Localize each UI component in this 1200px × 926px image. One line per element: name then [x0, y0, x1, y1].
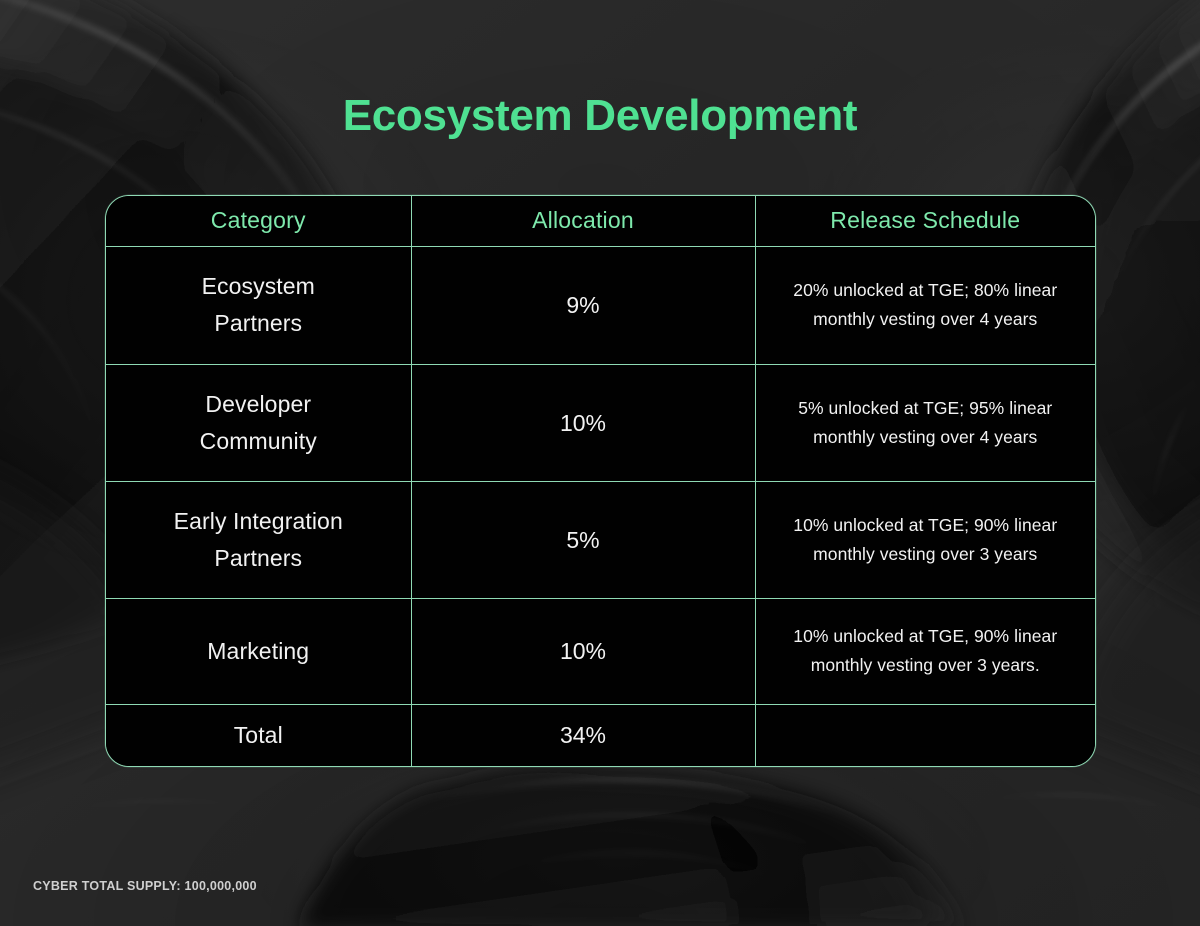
category-line: Ecosystem — [116, 268, 401, 305]
cell-allocation: 9% — [411, 246, 755, 364]
release-line: 5% unlocked at TGE; 95% — [798, 398, 1004, 418]
slide-root: Ecosystem Development Category Allocatio… — [0, 0, 1200, 926]
category-line: Developer — [116, 386, 401, 423]
release-line: 10% unlocked at TGE; 90% — [793, 515, 1009, 535]
release-line: 20% unlocked at TGE; 80% — [793, 280, 1009, 300]
column-header-release-schedule: Release Schedule — [755, 196, 1095, 246]
cell-allocation: 10% — [411, 364, 755, 481]
cell-category: Ecosystem Partners — [106, 246, 411, 364]
category-line: Marketing — [116, 633, 401, 670]
page-title: Ecosystem Development — [0, 88, 1200, 144]
table-row: Ecosystem Partners 9% 20% unlocked at TG… — [106, 246, 1095, 364]
cell-release-schedule: 10% unlocked at TGE, 90% linear monthly … — [755, 598, 1095, 704]
cell-release-schedule: 10% unlocked at TGE; 90% linear monthly … — [755, 481, 1095, 598]
release-line: 10% unlocked at TGE, 90% — [793, 626, 1009, 646]
category-line: Partners — [116, 305, 401, 342]
table-row: Early Integration Partners 5% 10% unlock… — [106, 481, 1095, 598]
cell-category: Marketing — [106, 598, 411, 704]
allocation-table: Category Allocation Release Schedule Eco… — [105, 195, 1096, 767]
cell-release-schedule-total — [755, 704, 1095, 766]
table-row: Developer Community 10% 5% unlocked at T… — [106, 364, 1095, 481]
release-line: over 4 years — [940, 309, 1037, 329]
release-line: over 3 years. — [938, 655, 1040, 675]
column-header-allocation: Allocation — [411, 196, 755, 246]
table-body: Ecosystem Partners 9% 20% unlocked at TG… — [106, 246, 1095, 766]
cell-release-schedule: 20% unlocked at TGE; 80% linear monthly … — [755, 246, 1095, 364]
table-header-row: Category Allocation Release Schedule — [106, 196, 1095, 246]
category-line: Partners — [116, 540, 401, 577]
cell-allocation: 10% — [411, 598, 755, 704]
cell-allocation-total: 34% — [411, 704, 755, 766]
cell-allocation: 5% — [411, 481, 755, 598]
total-supply-label: CYBER TOTAL SUPPLY: 100,000,000 — [33, 879, 257, 893]
column-header-category: Category — [106, 196, 411, 246]
cell-release-schedule: 5% unlocked at TGE; 95% linear monthly v… — [755, 364, 1095, 481]
release-line: over 3 years — [940, 544, 1037, 564]
release-line: over 4 years — [940, 427, 1037, 447]
cell-category: Early Integration Partners — [106, 481, 411, 598]
table-row: Marketing 10% 10% unlocked at TGE, 90% l… — [106, 598, 1095, 704]
cell-category-total: Total — [106, 704, 411, 766]
category-line: Community — [116, 423, 401, 460]
cell-category: Developer Community — [106, 364, 411, 481]
allocation-table-element: Category Allocation Release Schedule Eco… — [106, 196, 1095, 766]
table-header: Category Allocation Release Schedule — [106, 196, 1095, 246]
table-row-total: Total 34% — [106, 704, 1095, 766]
category-line: Early Integration — [116, 503, 401, 540]
